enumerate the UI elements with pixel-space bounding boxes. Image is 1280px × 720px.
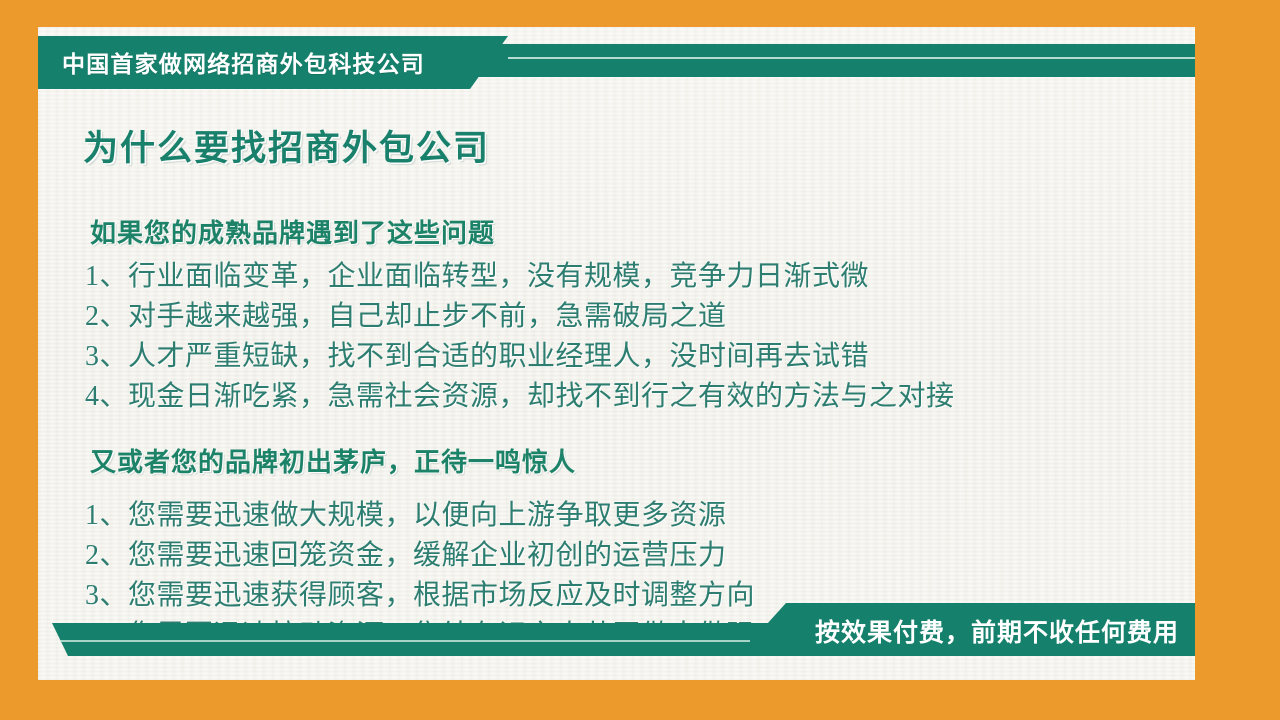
list-item: 2、对手越来越强，自己却止步不前，急需破局之道 (85, 297, 955, 337)
paper-panel: 中国首家做网络招商外包科技公司 为什么要找招商外包公司 如果您的成熟品牌遇到了这… (38, 27, 1195, 680)
list-item: 1、您需要迅速做大规模，以便向上游争取更多资源 (85, 496, 755, 536)
footer-slogan: 按效果付费，前期不收任何费用 (815, 613, 1179, 649)
list-item: 4、您需要迅速拉动资源，集结有识之士共同做大做强 (85, 616, 755, 656)
section-subtitle-problems: 如果您的成熟品牌遇到了这些问题 (90, 213, 495, 250)
list-item: 3、您需要迅速获得顾客，根据市场反应及时调整方向 (85, 576, 755, 616)
section-subtitle-startup: 又或者您的品牌初出茅庐，正待一鸣惊人 (90, 442, 576, 479)
header-tagline: 中国首家做网络招商外包科技公司 (62, 45, 425, 79)
problem-list: 1、行业面临变革，企业面临转型，没有规模，竞争力日渐式微 2、对手越来越强，自己… (85, 257, 955, 417)
header-accent-strip (458, 44, 1195, 77)
slide: 中国首家做网络招商外包科技公司 为什么要找招商外包公司 如果您的成熟品牌遇到了这… (0, 0, 1280, 720)
header-tag-shape (38, 36, 508, 89)
list-item: 2、您需要迅速回笼资金，缓解企业初创的运营压力 (85, 536, 755, 576)
footer-slogan-shape (738, 603, 1195, 656)
header-accent-line (508, 57, 1195, 59)
startup-needs-list: 1、您需要迅速做大规模，以便向上游争取更多资源 2、您需要迅速回笼资金，缓解企业… (85, 496, 755, 656)
header-ribbon: 中国首家做网络招商外包科技公司 (38, 36, 1195, 89)
list-item: 3、人才严重短缺，找不到合适的职业经理人，没时间再去试错 (85, 337, 955, 377)
page-title: 为什么要找招商外包公司 (83, 120, 490, 171)
list-item: 4、现金日渐吃紧，急需社会资源，却找不到行之有效的方法与之对接 (85, 377, 955, 417)
list-item: 1、行业面临变革，企业面临转型，没有规模，竞争力日渐式微 (85, 257, 955, 297)
